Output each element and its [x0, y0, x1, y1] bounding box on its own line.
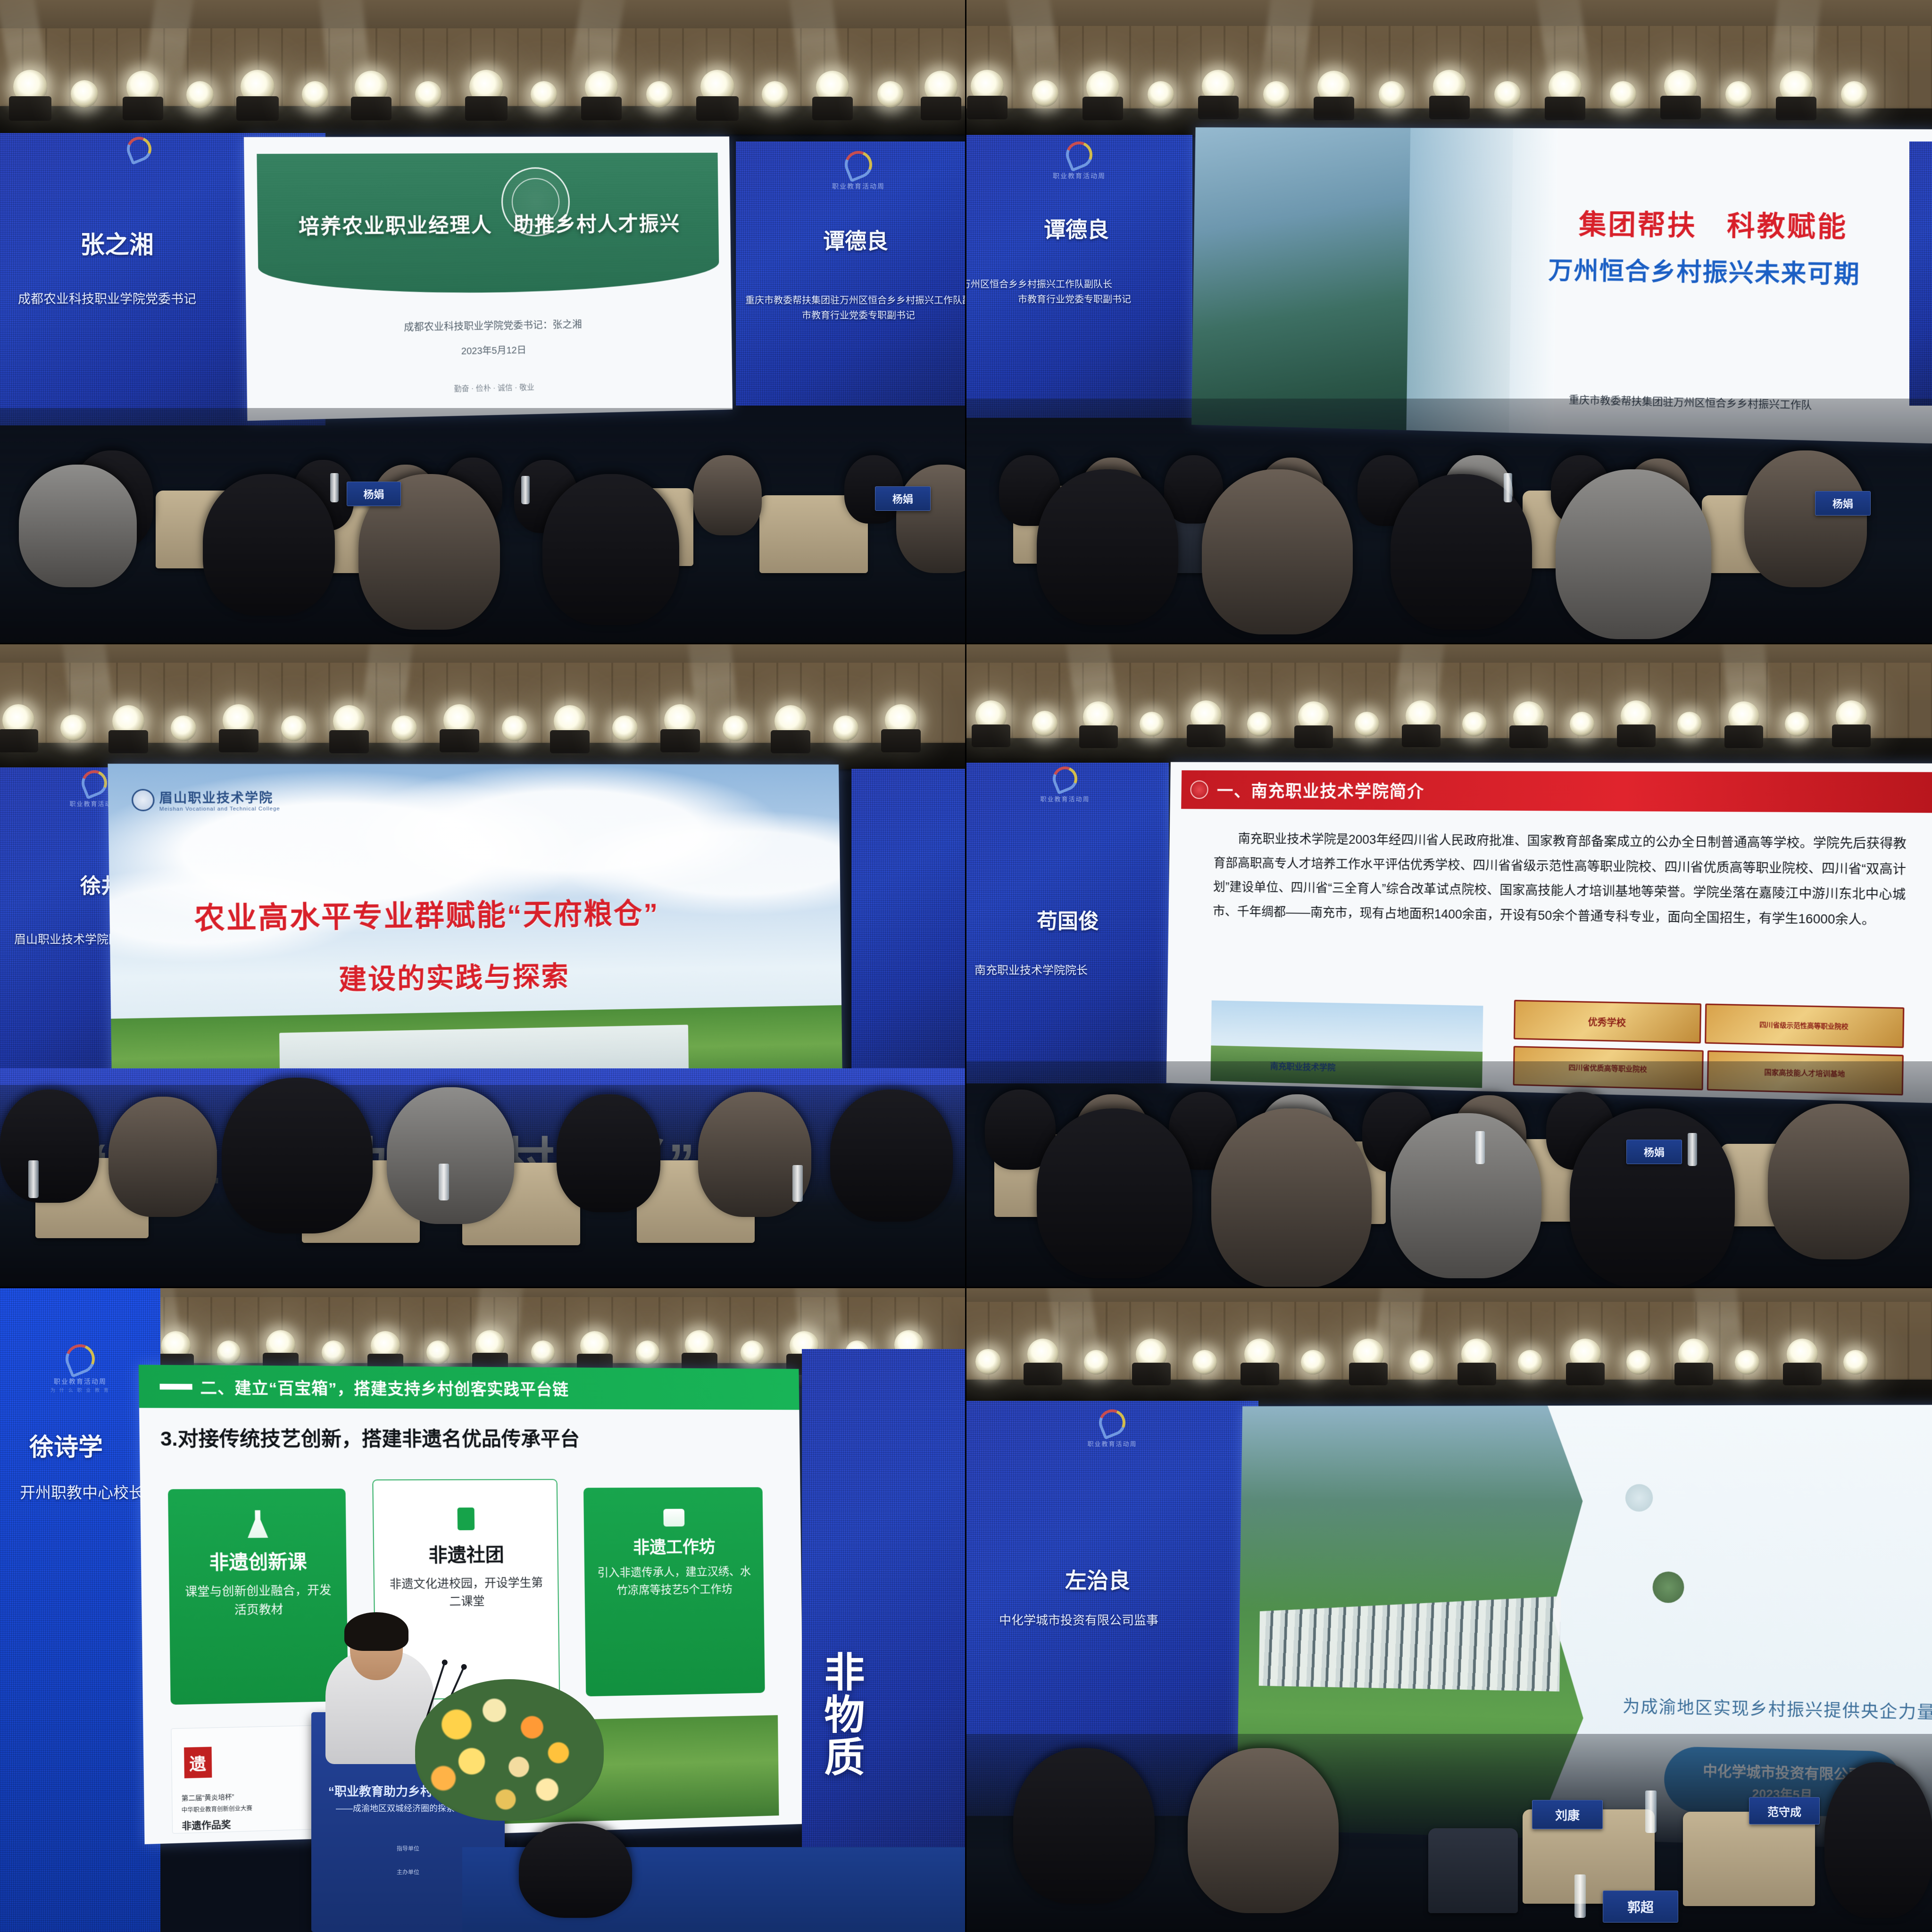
stage-light: [1843, 1350, 1868, 1374]
stage-light: [1379, 81, 1405, 108]
forum-logo-icon: 成都农业科技职业学院: [104, 137, 175, 165]
led-video-wall: 职业教育活动周 为 什 么 职 业 教 育 徐诗学 开州职教中心校长: [0, 1288, 160, 1932]
slide-footer: 勤奋 · 俭朴 · 诚信 · 敬业: [247, 377, 732, 399]
slide-title-line2: 建设的实践与探索: [338, 954, 570, 997]
card-desc: 课堂与创新创业融合，开发活页教材: [175, 1582, 341, 1621]
table-nameplate: 范守成: [1749, 1797, 1820, 1824]
stage-light: [1785, 712, 1809, 736]
stage-light: [1406, 700, 1437, 732]
led-video-wall-right: [1909, 142, 1932, 406]
nameplate-label: 郭超: [1627, 1897, 1654, 1916]
table-nameplate: 杨娟: [1626, 1140, 1682, 1164]
stage-light: [1298, 701, 1329, 733]
slide-green-header: 培养农业职业经理人 助推乡村人才振兴: [257, 153, 719, 296]
stage-light: [585, 71, 618, 104]
stage-light: [333, 705, 365, 737]
stage-light: [975, 700, 1007, 732]
stage-light: [281, 716, 307, 741]
audience-area: 杨娟: [966, 1061, 1932, 1288]
nameplate-label: 杨娟: [1832, 496, 1853, 511]
audience-area: 杨娟: [966, 399, 1932, 644]
stage-light: [469, 70, 503, 104]
stage-light: [1518, 1350, 1542, 1374]
forum-logo-icon: 职业教育活动周: [1030, 766, 1100, 803]
speaker-name: 左治良: [1065, 1564, 1130, 1595]
speaker-role: 中化学城市投资有限公司监事: [999, 1611, 1158, 1628]
stage-light: [112, 705, 144, 737]
stage-light: [924, 71, 958, 104]
table-nameplate: 刘康: [1532, 1800, 1603, 1829]
certificate-gallery: 优秀学校 四川省级示范性高等职业院校: [1514, 1000, 1904, 1048]
stage-light: [636, 1341, 659, 1364]
stage-light: [1494, 81, 1521, 108]
slide-header-text: 一、南充职业技术学院简介: [1217, 777, 1425, 802]
certificate-label: 四川省级示范性高等职业院校: [1759, 1020, 1849, 1031]
stage-light: [1677, 712, 1702, 736]
stage-light: [426, 1341, 450, 1364]
stage-light: [161, 1331, 191, 1360]
stage-light: [302, 81, 328, 108]
card-desc: 引入非遗传承人，建立汉绣、水竹凉席等技艺5个工作坊: [589, 1563, 759, 1599]
led-video-wall-right: [851, 769, 966, 1071]
panel-middle-left: 职业教育活动周 徐井万 眉山职业技术学院院长 眉山职业技术学院 Meishan …: [0, 644, 966, 1288]
slide-title-blue: 万州恒合乡村振兴未来可期: [1548, 250, 1860, 290]
certificate-label: 优秀学校: [1588, 1014, 1626, 1029]
stage-light: [877, 81, 904, 108]
stage-light: [612, 716, 638, 741]
stage-light: [1841, 81, 1867, 108]
slide-body-text: 南充职业技术学院是2003年经四川省人民政府批准、国家教育部备案成立的公办全日制…: [1213, 826, 1907, 933]
stage-light: [71, 80, 98, 108]
stage-light: [1461, 1339, 1492, 1370]
stage-light: [1084, 1350, 1108, 1374]
collage-seam-horizontal: [0, 643, 1932, 644]
stage-light: [1836, 700, 1867, 732]
stage-light: [741, 1341, 764, 1364]
panel-bottom-right: 职业教育活动周 左治良 中化学城市投资有限公司监事 为成渝地区实现乡村振兴提供央…: [966, 1288, 1932, 1932]
table-nameplate: 杨娟: [1815, 491, 1871, 516]
slide-title: 培养农业职业经理人 助推乡村人才振兴: [258, 208, 719, 241]
stage-light: [975, 1349, 1001, 1374]
slide-header-text: 二、建立“百宝箱”，搭建支持乡村创客实践平台链: [200, 1375, 569, 1400]
stage-light: [1083, 701, 1114, 733]
stage-light: [241, 70, 275, 104]
award-seal-label: 遗: [189, 1750, 206, 1774]
stage-light: [1317, 71, 1350, 104]
flask-icon: [246, 1510, 269, 1538]
stage-light: [475, 1330, 505, 1359]
collage-seam-vertical: [965, 0, 966, 1932]
nameplate-label: 范守成: [1767, 1803, 1801, 1819]
stage-light: [1735, 1350, 1759, 1374]
photo-collage: 成都农业科技职业学院 张之湘 成都农业科技职业学院党委书记 培养农业职业经理人 …: [0, 0, 1932, 1932]
stage-light: [1570, 712, 1594, 736]
slide-header-bar: 一、南充职业技术学院简介: [1181, 770, 1932, 813]
table-nameplate: 郭超: [1603, 1890, 1678, 1923]
stage-light: [1780, 71, 1813, 104]
speaker-role: 南充职业技术学院院长: [974, 961, 1088, 977]
stage-light: [1032, 80, 1058, 107]
stage-light: [1027, 1339, 1058, 1370]
stage-light: [1355, 712, 1379, 736]
stage-light: [531, 1341, 555, 1364]
slide-tagline: 为成渝地区实现乡村振兴提供央企力量: [1623, 1693, 1932, 1724]
clipboard-icon: [458, 1507, 475, 1530]
collage-seam-horizontal: [0, 1287, 1932, 1288]
stage-light: [646, 81, 673, 108]
workshop-icon: [663, 1509, 684, 1527]
stage-light: [971, 70, 1004, 103]
card-desc: 非遗文化进校园，开设学生第二课堂: [380, 1574, 552, 1612]
stage-light: [186, 81, 214, 108]
stage-light: [1621, 700, 1652, 732]
led-video-wall: 职业教育活动周 苟国俊 南充职业技术学院院长: [966, 763, 1169, 1083]
stage-light: [1263, 81, 1290, 108]
nameplate-label: 杨娟: [892, 491, 913, 506]
stage-light: [1549, 71, 1582, 104]
stage-light: [580, 1331, 609, 1360]
header-seal-icon: [1190, 780, 1208, 799]
audience-area: 刘康 范守成 郭超: [966, 1734, 1932, 1932]
led-video-wall: 职业教育活动周 谭德良 重庆市教委帮扶集团驻万州区恒合乡乡村振兴工作队副队长 市…: [966, 135, 1192, 418]
speaker-role: 成都农业科技职业学院党委书记: [18, 289, 196, 307]
slide-title-line1: 农业高水平专业群赋能“天府粮仓”: [194, 890, 659, 937]
slide-header-bar: 二、建立“百宝箱”，搭建支持乡村创客实践平台链: [139, 1365, 799, 1410]
stage-light: [266, 1330, 295, 1359]
speaker-role: 重庆市教委帮扶集团驻万州区恒合乡乡村振兴工作队副队长: [745, 292, 966, 306]
award-seal-icon: 遗: [184, 1747, 212, 1779]
stage-light: [833, 716, 858, 741]
award-line3: 非遗作品奖: [182, 1817, 231, 1832]
flower-arrangement: [415, 1679, 604, 1821]
stage-light: [1244, 1339, 1275, 1370]
panel-bottom-left: 职业教育活动周 为 什 么 职 业 教 育 徐诗学 开州职教中心校长 二、建立“…: [0, 1288, 966, 1932]
speaker-role: 开州职教中心校长: [20, 1480, 144, 1503]
presentation-slide: 集团帮扶 科教赋能 万州恒合乡村振兴未来可期 重庆市教委帮扶集团驻万州区恒合乡乡…: [1191, 127, 1932, 444]
stage-light: [1086, 71, 1119, 104]
award-line1: 第二届“黄炎培杯”: [181, 1792, 234, 1803]
presentation-slide: 培养农业职业经理人 助推乡村人才振兴 成都农业科技职业学院党委书记：张之湘 20…: [244, 136, 733, 421]
speaker-name: 张之湘: [80, 225, 154, 260]
stage-light: [664, 704, 696, 736]
stage-light: [554, 705, 586, 737]
stage-light: [60, 715, 87, 741]
led-video-wall-right: 非物质: [802, 1349, 966, 1868]
slide-date: 2023年5月12日: [246, 339, 732, 361]
stage-light: [1140, 712, 1164, 736]
slide-title-red: 集团帮扶 科教赋能: [1579, 202, 1848, 244]
nameplate-label: 刘康: [1555, 1806, 1580, 1824]
stage-light: [355, 71, 388, 104]
card-title: 非遗社团: [428, 1539, 504, 1567]
certificate: 四川省级示范性高等职业院校: [1705, 1004, 1904, 1048]
stage-light: [13, 70, 47, 104]
stage-light: [885, 704, 917, 736]
stage-light: [1462, 712, 1487, 736]
stage-light: [2, 704, 34, 736]
presentation-slide: 一、南充职业技术学院简介 南充职业技术学院是2003年经四川省人民政府批准、国家…: [1166, 762, 1932, 1104]
stage-light: [685, 1330, 714, 1359]
audience-area: [0, 1085, 966, 1288]
stage-light: [762, 81, 788, 108]
certificate: 优秀学校: [1514, 1000, 1701, 1044]
stage-light: [816, 71, 849, 104]
award-line2: 中华职业教育创新创业大赛: [182, 1804, 252, 1815]
stage-light: [1202, 70, 1235, 103]
audience-area: 杨娟 杨娟: [0, 408, 966, 644]
slide-byline: 成都农业科技职业学院党委书记：张之湘: [246, 314, 732, 336]
stage-light: [443, 704, 475, 736]
stage-light: [171, 716, 196, 741]
stage-light: [391, 716, 417, 741]
forum-logo-icon: 职业教育活动周: [825, 151, 891, 191]
stage-light: [531, 81, 557, 108]
stage-light: [1192, 1350, 1217, 1374]
speaker-role: 重庆市教委帮扶集团驻万州区恒合乡乡村振兴工作队副队长: [966, 276, 1112, 290]
stage-light: [1725, 81, 1752, 108]
forum-logo-icon: 职业教育活动周 为 什 么 职 业 教 育: [40, 1344, 120, 1393]
stage-light: [1148, 81, 1174, 108]
table-nameplate: 杨娟: [347, 482, 401, 506]
feature-card: 非遗创新课 课堂与创新创业融合，开发活页教材: [168, 1489, 348, 1705]
led-video-wall-right: 职业教育活动周 谭德良 重庆市教委帮扶集团驻万州区恒合乡乡村振兴工作队副队长 市…: [736, 142, 966, 406]
stage-light: [1626, 1350, 1651, 1374]
slide-subheader: 3.对接传统技艺创新，搭建非遗名优品传承平台: [160, 1423, 580, 1452]
stage-light: [1409, 1350, 1434, 1374]
slide-logo-en: Meishan Vocational and Technical College: [159, 806, 280, 812]
stage-light: [1136, 1339, 1167, 1370]
stage-light: [1678, 1339, 1709, 1370]
panel-top-left: 成都农业科技职业学院 张之湘 成都农业科技职业学院党委书记 培养农业职业经理人 …: [0, 0, 966, 644]
header-dots-icon: [160, 1383, 192, 1390]
stage-light: [1032, 711, 1058, 736]
speaker-name: 徐诗学: [29, 1427, 103, 1463]
stage-light: [1610, 81, 1636, 108]
nameplate-label: 杨娟: [363, 486, 384, 501]
feature-card: 非遗工作坊 引入非遗传承人，建立汉绣、水竹凉席等技艺5个工作坊: [583, 1487, 765, 1696]
stage-light: [1513, 701, 1544, 733]
speaker-name: 谭德良: [823, 224, 888, 255]
panel-top-right: 职业教育活动周 谭德良 重庆市教委帮扶集团驻万州区恒合乡乡村振兴工作队副队长 市…: [966, 0, 1932, 644]
stage-light: [1353, 1339, 1384, 1370]
stage-light: [1433, 70, 1466, 103]
forum-logo-icon: 职业教育活动周: [1044, 142, 1115, 181]
stage-light: [1787, 1339, 1818, 1370]
stage-light: [126, 71, 159, 104]
stage-light: [1664, 70, 1697, 103]
panel-middle-right: 职业教育活动周 苟国俊 南充职业技术学院院长 一、南充职业技术学院简介 南充职业…: [966, 644, 1932, 1288]
college-logo-icon: [131, 789, 154, 811]
slide-logo-cn: 眉山职业技术学院: [159, 787, 280, 806]
card-title: 非遗工作坊: [633, 1534, 716, 1559]
stage-light: [700, 70, 734, 104]
stage-light: [223, 704, 255, 736]
card-title: 非遗创新课: [209, 1546, 307, 1575]
stage-light: [217, 1341, 241, 1364]
stage-light: [723, 716, 748, 741]
stage-light: [1247, 712, 1272, 736]
stage-light: [371, 1331, 400, 1360]
presentation-slide: 眉山职业技术学院 Meishan Vocational and Technica…: [108, 764, 842, 1108]
table-nameplate: 杨娟: [875, 486, 931, 511]
speaker-name: 苟国俊: [1037, 904, 1099, 934]
speaker-name: 谭德良: [1044, 213, 1109, 244]
stage-light: [1728, 701, 1759, 733]
stage-light: [1570, 1339, 1601, 1370]
speaker-role-2: 市教育行业党委专职副书记: [802, 308, 915, 321]
forum-logo-icon: 职业教育活动周: [1074, 1409, 1150, 1448]
stage-light: [415, 81, 441, 108]
stage-light: [322, 1341, 345, 1364]
stage-light: [502, 716, 527, 741]
speaker-role-2: 市教育行业党委专职副书记: [1018, 291, 1131, 305]
stage-light: [1301, 1350, 1325, 1374]
stage-light: [1191, 700, 1222, 732]
nameplate-label: 杨娟: [1644, 1144, 1665, 1159]
stage-light: [774, 705, 807, 737]
